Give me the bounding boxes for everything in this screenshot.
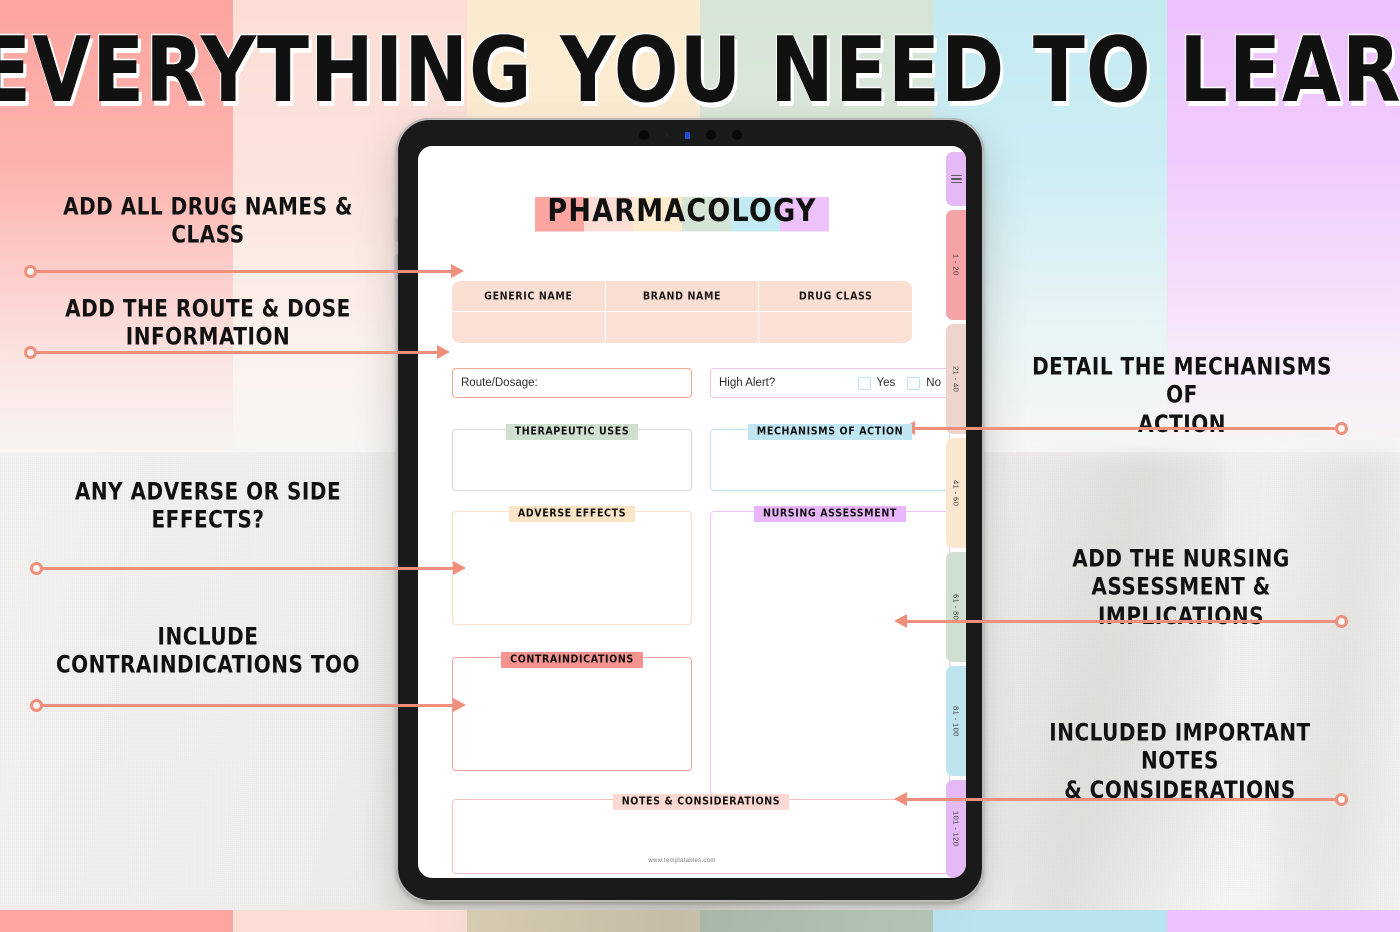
bottom-band-5 (933, 910, 1166, 932)
bottom-band-6 (1167, 910, 1400, 932)
tablet-device-mockup: PHARMACOLOGY GENERIC NAME BRAND NAME DRU… (396, 118, 984, 902)
high-alert-no-checkbox[interactable] (907, 377, 920, 390)
background-shadow-left (1010, 455, 1220, 932)
sidebar-tab-41-60-label: 41 - 60 (952, 480, 961, 506)
leader-line (26, 270, 454, 273)
leader-line (912, 427, 1346, 430)
annotation-adverse-effects: ANY ADVERSE OR SIDE EFFECTS? (58, 477, 358, 535)
front-camera-icon (639, 130, 649, 140)
therapeutic-uses-title: THERAPEUTIC USES (452, 421, 692, 439)
sidebar-tab-61-80[interactable]: 61 - 80 (946, 552, 966, 662)
document-title: PHARMACOLOGY (535, 191, 828, 234)
bottom-color-bands (0, 910, 1400, 932)
document-footer-url: www.templatables.com (418, 858, 946, 864)
leader-line (904, 798, 1346, 801)
leader-line (32, 704, 456, 707)
leader-dot (24, 265, 37, 278)
contraindications-title: CONTRAINDICATIONS (452, 649, 692, 667)
route-dosage-label: Route/Dosage: (461, 377, 538, 389)
cell-drug-class[interactable] (758, 310, 912, 343)
adverse-effects-title-text: ADVERSE EFFECTS (509, 506, 635, 522)
bottom-band-1 (0, 910, 233, 932)
leader-dot (1335, 422, 1348, 435)
leader-dot (1335, 793, 1348, 806)
leader-notes (904, 792, 1346, 806)
leader-dot (24, 346, 37, 359)
sidebar-tab-1-20[interactable]: 1 - 20 (946, 210, 966, 320)
ambient-sensor-icon (665, 133, 669, 137)
notes-considerations-title: NOTES & CONSIDERATIONS (452, 791, 950, 809)
section-nursing-assessment[interactable]: NURSING ASSESSMENT (710, 511, 950, 802)
section-mechanisms-of-action[interactable]: MECHANISMS OF ACTION (710, 429, 950, 491)
mechanisms-of-action-title-text: MECHANISMS OF ACTION (748, 424, 912, 440)
leader-arrow-right-icon (453, 561, 466, 575)
leader-line (904, 620, 1346, 623)
leader-dot (30, 562, 43, 575)
bottom-band-3 (467, 910, 700, 932)
background-shadow-right (1270, 455, 1400, 932)
status-led-icon (685, 132, 690, 139)
high-alert-field[interactable]: High Alert? Yes No (710, 368, 950, 398)
promo-graphic-root: EVERYTHING YOU NEED TO LEARN ON ONE PAGE (0, 0, 1400, 932)
col-header-generic-name: GENERIC NAME (452, 281, 605, 313)
sidebar-tab-81-100-label: 81 - 100 (952, 706, 961, 737)
cell-generic-name[interactable] (452, 310, 605, 343)
sidebar-menu-tab[interactable] (946, 152, 966, 206)
section-adverse-effects[interactable]: ADVERSE EFFECTS (452, 511, 692, 625)
drug-name-table: GENERIC NAME BRAND NAME DRUG CLASS (452, 281, 912, 343)
tablet-sensor-row (398, 130, 982, 140)
leader-line (26, 351, 440, 354)
document-title-text: PHARMACOLOGY (547, 194, 816, 230)
annotation-route-dose: ADD THE ROUTE & DOSE INFORMATION (58, 294, 358, 352)
leader-contraindications (32, 698, 456, 712)
sidebar-tab-101-120-label: 101 - 120 (952, 811, 961, 846)
leader-line (32, 567, 456, 570)
leader-route-dose (26, 345, 440, 359)
therapeutic-uses-title-text: THERAPEUTIC USES (506, 424, 639, 440)
section-contraindications[interactable]: CONTRAINDICATIONS (452, 657, 692, 771)
col-header-drug-class: DRUG CLASS (758, 281, 912, 313)
sidebar-tab-1-20-label: 1 - 20 (952, 254, 961, 276)
col-header-brand-name: BRAND NAME (605, 281, 759, 313)
mechanisms-of-action-title: MECHANISMS OF ACTION (710, 421, 950, 439)
contraindications-input-area[interactable] (452, 657, 692, 771)
drug-name-table-header-row: GENERIC NAME BRAND NAME DRUG CLASS (452, 281, 912, 311)
bottom-band-4 (700, 910, 933, 932)
section-therapeutic-uses[interactable]: THERAPEUTIC USES (452, 429, 692, 491)
leader-arrow-right-icon (437, 345, 450, 359)
high-alert-yes-label: Yes (877, 377, 896, 389)
notes-considerations-title-text: NOTES & CONSIDERATIONS (613, 794, 790, 810)
annotation-drug-names: ADD ALL DRUG NAMES & CLASS (58, 192, 358, 250)
adverse-effects-input-area[interactable] (452, 511, 692, 625)
nursing-assessment-input-area[interactable] (710, 511, 950, 802)
high-alert-yes-checkbox[interactable] (858, 377, 871, 390)
nursing-assessment-title: NURSING ASSESSMENT (710, 503, 950, 521)
page-headline: EVERYTHING YOU NEED TO LEARN ON ONE PAGE (0, 18, 1400, 123)
high-alert-no-label: No (926, 377, 941, 389)
sidebar-tab-21-40[interactable]: 21 - 40 (946, 324, 966, 434)
contraindications-title-text: CONTRAINDICATIONS (501, 652, 643, 668)
depth-camera-icon (706, 130, 716, 140)
sidebar-tab-21-40-label: 21 - 40 (952, 366, 961, 392)
leader-nursing (904, 614, 1346, 628)
cell-brand-name[interactable] (605, 310, 759, 343)
leader-adverse-effects (32, 561, 456, 575)
leader-dot (30, 699, 43, 712)
pharmacology-worksheet-page: PHARMACOLOGY GENERIC NAME BRAND NAME DRU… (418, 146, 946, 878)
document-title-wrap: PHARMACOLOGY (418, 194, 946, 231)
nursing-assessment-title-text: NURSING ASSESSMENT (754, 506, 906, 522)
volume-up-button[interactable] (394, 216, 398, 242)
sidebar-tab-81-100[interactable]: 81 - 100 (946, 666, 966, 776)
annotation-contraindications: INCLUDE CONTRAINDICATIONS TOO (48, 622, 368, 680)
high-alert-label: High Alert? (719, 377, 858, 389)
adverse-effects-title: ADVERSE EFFECTS (452, 503, 692, 521)
ir-camera-icon (732, 130, 742, 140)
route-dosage-field[interactable]: Route/Dosage: (452, 368, 692, 398)
leader-arrow-left-icon (894, 614, 907, 628)
leader-arrow-right-icon (453, 698, 466, 712)
leader-drug-names (26, 264, 454, 278)
bottom-band-2 (233, 910, 466, 932)
sidebar-tab-41-60[interactable]: 41 - 60 (946, 438, 966, 548)
drug-name-table-entry-row[interactable] (452, 311, 912, 343)
hamburger-menu-icon[interactable] (951, 175, 962, 184)
leader-dot (1335, 615, 1348, 628)
leader-arrow-right-icon (451, 264, 464, 278)
tablet-screen: PHARMACOLOGY GENERIC NAME BRAND NAME DRU… (418, 146, 966, 878)
leader-mechanisms (912, 421, 1346, 435)
